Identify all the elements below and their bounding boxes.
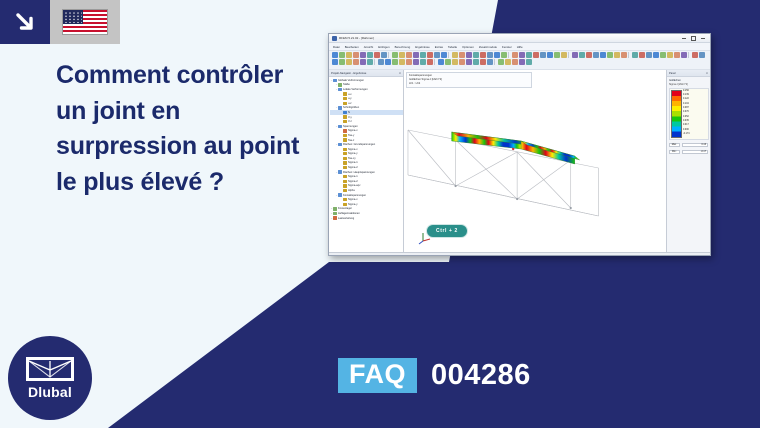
toolbar-button-32[interactable]	[547, 52, 553, 58]
flag-graphic	[62, 9, 108, 35]
flag-canton	[63, 10, 83, 24]
tree-node-label: Sigma-eqv	[348, 184, 360, 187]
tree-node-icon	[343, 184, 347, 187]
toolbar-button-40[interactable]	[600, 52, 606, 58]
toolbar-button-6[interactable]	[374, 52, 380, 58]
application-window: RFEM 5.21.02 - [Rahmen] DateiBearbeitenA…	[328, 33, 711, 256]
tree-node-label: V-y	[348, 116, 352, 119]
tab-icon	[332, 255, 335, 256]
logo-text: Dlubal	[28, 384, 72, 400]
headline-line-3: surpression au point	[56, 129, 326, 165]
frame-truss-icon	[26, 357, 74, 381]
scale-tick-labels: 0.1560.1390.1220.1040.0870.0700.0520.035…	[683, 90, 690, 136]
toolbar-button-41[interactable]	[607, 52, 613, 58]
menu-item-6[interactable]: Extras	[435, 45, 443, 49]
toolbar-button-38[interactable]	[586, 52, 592, 58]
page-title: Comment contrôler un joint en surpressio…	[56, 58, 326, 200]
bottom-tabs: DatenLastenAnsichtenErgebnisse	[329, 252, 710, 256]
toolbar-button-4[interactable]	[360, 52, 366, 58]
toolbar-button-45[interactable]	[632, 52, 638, 58]
min-value: -0.17	[682, 150, 708, 154]
toolbar-button-1[interactable]	[339, 52, 345, 58]
toolbar-button-76[interactable]	[466, 59, 472, 65]
tree-node-label: Knotenlager	[338, 207, 352, 210]
slide-canvas: Comment contrôler un joint en surpressio…	[0, 0, 760, 428]
toolbar-button-3[interactable]	[353, 52, 359, 58]
toolbar-button-56[interactable]	[332, 59, 338, 65]
tree-node-label: Sigma-1	[348, 161, 358, 164]
toolbar-button-27[interactable]	[512, 52, 518, 58]
toolbar-button-51[interactable]	[674, 52, 680, 58]
bottom-tab[interactable]: Ansichten	[361, 255, 376, 256]
toolbar-separator	[628, 52, 631, 58]
toolbar-button-13[interactable]	[420, 52, 426, 58]
toolbar-button-85[interactable]	[526, 59, 532, 65]
toolbar-button-60[interactable]	[360, 59, 366, 65]
toolbar-button-43[interactable]	[621, 52, 627, 58]
toolbar-button-16[interactable]	[441, 52, 447, 58]
toolbar-button-67[interactable]	[406, 59, 412, 65]
toolbar-button-5[interactable]	[367, 52, 373, 58]
language-bar	[0, 0, 120, 44]
scale-tick: 0.122	[683, 98, 690, 100]
tree-node-icon	[343, 152, 347, 155]
toolbar-button-33[interactable]	[554, 52, 560, 58]
toolbar-button-64[interactable]	[385, 59, 391, 65]
tree-node-icon	[338, 106, 342, 109]
minimize-button[interactable]	[682, 38, 686, 39]
tree-node-label: Flächen: Hauptspannungen	[343, 171, 375, 174]
toolbar-button-77[interactable]	[473, 59, 479, 65]
toolbar-button-34[interactable]	[561, 52, 567, 58]
scale-tick: 0.104	[683, 103, 690, 105]
toolbar-separator	[434, 59, 437, 65]
toolbar-button-12[interactable]	[413, 52, 419, 58]
tree-node-label: Schnittgrößen	[343, 106, 359, 109]
toolbar-button-57[interactable]	[339, 59, 345, 65]
toolbar-button-15[interactable]	[434, 52, 440, 58]
tab-label: Daten	[336, 255, 343, 256]
toolbar-button-84[interactable]	[519, 59, 525, 65]
tab-icon	[346, 255, 349, 256]
toolbar-button-20[interactable]	[466, 52, 472, 58]
tree-node-icon	[343, 166, 347, 169]
tree-node-icon	[338, 143, 342, 146]
tree-node-icon	[343, 97, 347, 100]
toolbar-button-50[interactable]	[667, 52, 673, 58]
tree-node-icon	[333, 216, 337, 219]
results-panel: Panel ✕ Isoflächen Sigma-z [kN/m^2] 0.15…	[667, 70, 710, 252]
max-value: 0.16	[682, 143, 708, 147]
shortcut-badge: Ctrl + 2	[426, 224, 468, 238]
tree-node-icon	[333, 79, 337, 82]
tree-node-icon	[343, 157, 347, 160]
panel-title: Panel	[669, 72, 676, 75]
toolbar-separator	[688, 52, 691, 58]
tree-node-label: Sigma-x	[348, 129, 358, 132]
toolbar-button-61[interactable]	[367, 59, 373, 65]
toolbar-button-68[interactable]	[413, 59, 419, 65]
tab-icon	[361, 255, 364, 256]
toolbar-button-58[interactable]	[346, 59, 352, 65]
toolbar-button-70[interactable]	[427, 59, 433, 65]
toolbar-button-10[interactable]	[399, 52, 405, 58]
tab-label: Ergebnisse	[383, 255, 396, 256]
toolbar-button-21[interactable]	[473, 52, 479, 58]
toolbar-button-73[interactable]	[445, 59, 451, 65]
tree-node-label: u-x	[348, 93, 352, 96]
color-gradient-bar	[671, 90, 682, 138]
tree-node-label: Tau-xy	[348, 157, 356, 160]
panel-header: Panel ✕	[667, 70, 710, 77]
tree-node-icon	[338, 170, 342, 173]
toolbar-button-18[interactable]	[452, 52, 458, 58]
toolbar-button-59[interactable]	[353, 59, 359, 65]
window-controls	[682, 36, 707, 41]
tree-node-icon	[338, 125, 342, 128]
scale-tick: 0.000	[683, 129, 690, 131]
scale-tick: 0.035	[683, 120, 690, 122]
toolbar-button-74[interactable]	[452, 59, 458, 65]
contour-beam	[452, 132, 580, 164]
toolbar-button-19[interactable]	[459, 52, 465, 58]
navigator-header: Projekt-Navigator - Ergebnisse ✕	[329, 70, 403, 77]
tree-node-icon	[343, 138, 347, 141]
tree-node-label: Flächen: Grundspannungen	[343, 143, 375, 146]
legend-body: Isoflächen Sigma-z [kN/m^2] 0.1560.1390.…	[667, 77, 710, 252]
project-navigator: Projekt-Navigator - Ergebnisse ✕ −Global…	[329, 70, 404, 252]
tree-node-label: Sigma-2	[348, 180, 358, 183]
menu-item-11[interactable]: Hilfe	[517, 45, 523, 49]
dlubal-logo[interactable]: Dlubal	[8, 336, 92, 420]
toolbar-button-65[interactable]	[392, 59, 398, 65]
toolbar-button-24[interactable]	[494, 52, 500, 58]
tree-node-icon	[343, 111, 347, 114]
toolbar-button-81[interactable]	[498, 59, 504, 65]
tree-node-label: V-z	[348, 120, 352, 123]
tree-node-label: Auflagerreaktionen	[338, 212, 360, 215]
tree-node[interactable]: −Lastverteilung	[330, 216, 403, 221]
scale-tick: 0.052	[683, 116, 690, 118]
tree-node-label: Tau-z	[348, 139, 354, 142]
tree-node-label: Sigma-x	[348, 198, 358, 201]
menu-item-0[interactable]: Datei	[333, 45, 340, 49]
tree-node-icon	[343, 203, 347, 206]
tree-node-label: Sigma-2	[348, 166, 358, 169]
scale-tick: 0.156	[683, 90, 690, 92]
headline-line-4: le plus élevé ?	[56, 165, 326, 201]
tree-node-label: u-y	[348, 97, 352, 100]
app-title: RFEM 5.21.02 - [Rahmen]	[339, 36, 374, 40]
tree-node-label: Spannungen	[343, 125, 358, 128]
tree-node-icon	[343, 198, 347, 201]
tree-node-icon	[343, 120, 347, 123]
toolbar-button-29[interactable]	[526, 52, 532, 58]
toolbar-button-47[interactable]	[646, 52, 652, 58]
model-viewport[interactable]: Kontaktspannungen Isoflächen Sigma-z [kN…	[404, 70, 667, 252]
toolbar-separator	[494, 59, 497, 65]
tree-node-label: Alpha	[348, 189, 355, 192]
toolbar-button-83[interactable]	[512, 59, 518, 65]
legend-unit: Sigma-z [kN/m^2]	[669, 83, 708, 86]
bottom-tab[interactable]: Ergebnisse	[379, 255, 396, 256]
tab-icon	[379, 255, 382, 256]
tree-node-icon	[333, 207, 337, 210]
toolbar-separator	[508, 52, 511, 58]
toolbar-separator	[388, 52, 391, 58]
toolbar-button-14[interactable]	[427, 52, 433, 58]
toolbar-button-72[interactable]	[438, 59, 444, 65]
tab-label: Lasten	[350, 255, 358, 256]
toolbar-button-42[interactable]	[614, 52, 620, 58]
toolbar-button-48[interactable]	[653, 52, 659, 58]
menu-item-4[interactable]: Berechnung	[395, 45, 411, 49]
toolbar-button-78[interactable]	[480, 59, 486, 65]
toolbar-button-7[interactable]	[381, 52, 387, 58]
tree-node-label: Sigma-y	[348, 203, 358, 206]
tree-node-icon	[343, 92, 347, 95]
panel-close-icon[interactable]: ✕	[706, 72, 708, 75]
tree-node-icon	[338, 83, 342, 86]
scale-tick: 0.070	[683, 111, 690, 113]
toolbar-button-54[interactable]	[692, 52, 698, 58]
tree-node-icon	[343, 175, 347, 178]
toolbar-button-22[interactable]	[480, 52, 486, 58]
toolbar-button-11[interactable]	[406, 52, 412, 58]
bottom-tab[interactable]: Daten	[332, 255, 343, 256]
tree-node-icon	[338, 193, 342, 196]
tree-node-label: Lokale Verformungen	[343, 88, 368, 91]
tree-node-label: Tau-y	[348, 134, 354, 137]
faq-number: 004286	[431, 361, 531, 390]
scale-tick: 0.087	[683, 107, 690, 109]
toolbar-button-63[interactable]	[378, 59, 384, 65]
tree-node-label: Stäbe	[343, 83, 350, 86]
us-flag-icon[interactable]	[50, 0, 120, 44]
max-row: Max : 0.16	[669, 143, 708, 147]
scale-tick: 0.017	[683, 124, 690, 126]
tree-node-icon	[343, 180, 347, 183]
headline-line-1: Comment contrôler	[56, 58, 326, 94]
scale-tick: -0.174	[683, 133, 690, 135]
menu-item-10[interactable]: Fenster	[502, 45, 512, 49]
navigator-title: Projekt-Navigator - Ergebnisse	[331, 72, 366, 75]
menu-item-1[interactable]: Bearbeiten	[345, 45, 359, 49]
navigator-close-icon[interactable]: ✕	[399, 72, 401, 75]
toolbar-button-0[interactable]	[332, 52, 338, 58]
tree-node-label: N	[348, 111, 350, 114]
app-titlebar: RFEM 5.21.02 - [Rahmen]	[329, 34, 710, 43]
toolbar-separator	[568, 52, 571, 58]
tree-node-label: Kontaktspannungen	[343, 194, 366, 197]
toolbar-button-79[interactable]	[487, 59, 493, 65]
tree-node-icon	[343, 161, 347, 164]
menu-item-2[interactable]: Ansicht	[364, 45, 373, 49]
tree-node-label: Sigma-1	[348, 175, 358, 178]
menu-item-3[interactable]: Einfügen	[378, 45, 389, 49]
tree-node-icon	[343, 189, 347, 192]
toolbar-button-9[interactable]	[392, 52, 398, 58]
toolbar-button-52[interactable]	[681, 52, 687, 58]
toolbar-separator	[374, 59, 377, 65]
color-scale[interactable]: 0.1560.1390.1220.1040.0870.0700.0520.035…	[669, 88, 709, 140]
app-body: Projekt-Navigator - Ergebnisse ✕ −Global…	[329, 70, 710, 252]
app-toolbar	[329, 51, 710, 70]
menu-item-7[interactable]: Tabelle	[448, 45, 457, 49]
toolbar-button-25[interactable]	[501, 52, 507, 58]
app-icon	[332, 36, 337, 41]
toolbar-button-37[interactable]	[579, 52, 585, 58]
toolbar-button-46[interactable]	[639, 52, 645, 58]
tree-node-label: Sigma-y	[348, 152, 358, 155]
tree-node-label: u-z	[348, 102, 352, 105]
tree-node-icon	[343, 115, 347, 118]
headline-line-2: un joint en	[56, 94, 326, 130]
scale-tick: 0.139	[683, 94, 690, 96]
navigator-tree: −Globale Verformungen−Stäbe−Lokale Verfo…	[329, 77, 403, 252]
toolbar-separator	[448, 52, 451, 58]
app-menubar: DateiBearbeitenAnsichtEinfügenBerechnung…	[329, 43, 710, 51]
toolbar-button-30[interactable]	[533, 52, 539, 58]
tree-node-icon	[343, 129, 347, 132]
toolbar-button-28[interactable]	[519, 52, 525, 58]
toolbar-button-39[interactable]	[593, 52, 599, 58]
close-button[interactable]	[701, 38, 705, 39]
maximize-button[interactable]	[691, 36, 696, 41]
tree-node-icon	[338, 88, 342, 91]
toolbar-button-82[interactable]	[505, 59, 511, 65]
toolbar-button-31[interactable]	[540, 52, 546, 58]
toolbar-button-36[interactable]	[572, 52, 578, 58]
max-label: Max :	[669, 143, 680, 147]
toolbar-button-75[interactable]	[459, 59, 465, 65]
menu-item-5[interactable]: Ergebnisse	[415, 45, 429, 49]
tree-node-label: Sigma-x	[348, 148, 358, 151]
toolbar-button-23[interactable]	[487, 52, 493, 58]
toolbar-button-69[interactable]	[420, 59, 426, 65]
tree-node-icon	[343, 148, 347, 151]
faq-footer: FAQ 004286	[338, 358, 531, 393]
tree-node-icon	[343, 102, 347, 105]
toolbar-button-49[interactable]	[660, 52, 666, 58]
min-label: Min :	[669, 150, 680, 154]
menu-item-9[interactable]: Zusatzmodule	[479, 45, 497, 49]
tree-node-label: Globale Verformungen	[338, 79, 364, 82]
menu-item-8[interactable]: Optionen	[462, 45, 474, 49]
toolbar-button-55[interactable]	[699, 52, 705, 58]
tree-node-icon	[343, 134, 347, 137]
bottom-tab[interactable]: Lasten	[346, 255, 358, 256]
tree-node-label: Lastverteilung	[338, 217, 354, 220]
toolbar-button-66[interactable]	[399, 59, 405, 65]
tab-label: Ansichten	[365, 255, 376, 256]
faq-badge: FAQ	[338, 358, 417, 393]
arrow-down-right-icon[interactable]	[0, 0, 50, 44]
tree-node-icon	[333, 212, 337, 215]
min-row: Min : -0.17	[669, 150, 708, 154]
toolbar-button-2[interactable]	[346, 52, 352, 58]
